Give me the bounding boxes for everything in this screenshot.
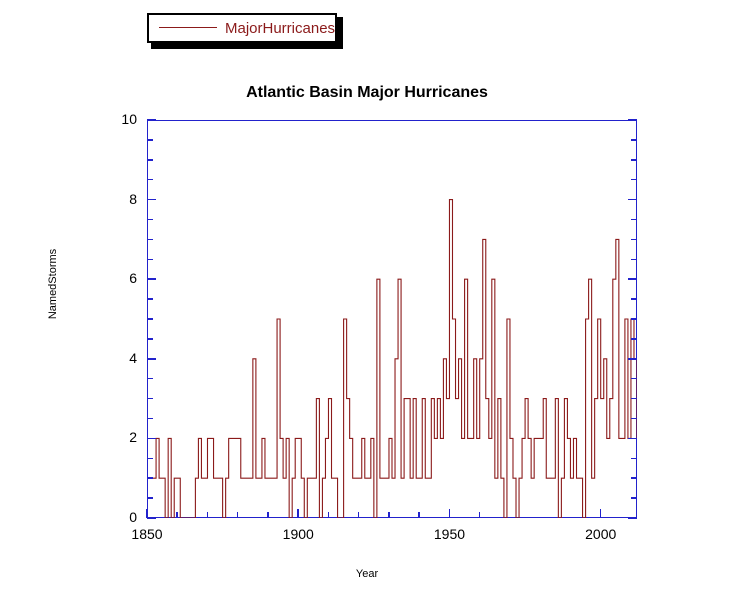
chart-root: MajorHurricanes Atlantic Basin Major Hur… [0, 0, 734, 599]
y-minor-tick-right [631, 338, 637, 340]
y-minor-tick-right [631, 219, 637, 221]
y-minor-tick [147, 418, 153, 420]
y-minor-tick [147, 139, 153, 141]
y-major-tick-right [628, 119, 637, 121]
y-tick-label-10: 10 [105, 111, 137, 127]
y-minor-tick-right [631, 477, 637, 479]
x-minor-tick [479, 512, 481, 518]
y-minor-tick [147, 338, 153, 340]
chart-title: Atlantic Basin Major Hurricanes [0, 84, 734, 102]
y-tick-label-6: 6 [105, 270, 137, 286]
y-tick-label-0: 0 [105, 509, 137, 525]
y-tick-label-4: 4 [105, 350, 137, 366]
y-minor-tick-right [631, 179, 637, 181]
y-minor-tick [147, 159, 153, 161]
x-major-tick [449, 509, 451, 518]
y-minor-tick-right [631, 318, 637, 320]
y-minor-tick [147, 398, 153, 400]
y-major-tick-right [628, 517, 637, 519]
y-minor-tick [147, 298, 153, 300]
x-tick-label-1900: 1900 [268, 526, 328, 542]
x-minor-tick [267, 512, 269, 518]
x-tick-label-1950: 1950 [419, 526, 479, 542]
y-minor-tick [147, 378, 153, 380]
y-tick-label-8: 8 [105, 191, 137, 207]
x-major-tick [146, 509, 148, 518]
y-minor-tick [147, 458, 153, 460]
x-minor-tick [388, 512, 390, 518]
y-minor-tick-right [631, 378, 637, 380]
y-minor-tick [147, 477, 153, 479]
y-major-tick-right [628, 358, 637, 360]
y-major-tick [147, 278, 156, 280]
x-tick-label-2000: 2000 [571, 526, 631, 542]
y-major-tick [147, 199, 156, 201]
x-axis-title: Year [0, 568, 734, 580]
x-minor-tick [207, 512, 209, 518]
y-minor-tick [147, 219, 153, 221]
legend-line-sample-icon [159, 27, 217, 29]
y-minor-tick-right [631, 497, 637, 499]
x-minor-tick [328, 512, 330, 518]
y-minor-tick-right [631, 418, 637, 420]
legend-label-majorhurricanes: MajorHurricanes [225, 20, 335, 37]
y-minor-tick [147, 259, 153, 261]
y-major-tick-right [628, 278, 637, 280]
y-minor-tick-right [631, 159, 637, 161]
y-major-tick-right [628, 438, 637, 440]
x-tick-label-1850: 1850 [117, 526, 177, 542]
y-minor-tick-right [631, 458, 637, 460]
x-minor-tick [418, 512, 420, 518]
y-tick-label-2: 2 [105, 429, 137, 445]
y-minor-tick [147, 318, 153, 320]
x-major-tick [297, 509, 299, 518]
y-major-tick-right [628, 199, 637, 201]
y-major-tick [147, 358, 156, 360]
data-series-majorhurricanes [147, 120, 637, 518]
x-minor-tick [176, 512, 178, 518]
y-minor-tick [147, 239, 153, 241]
y-minor-tick-right [631, 139, 637, 141]
y-major-tick [147, 119, 156, 121]
y-minor-tick [147, 497, 153, 499]
series-path [150, 200, 637, 518]
y-major-tick [147, 517, 156, 519]
y-minor-tick-right [631, 259, 637, 261]
x-major-tick [600, 509, 602, 518]
y-minor-tick-right [631, 239, 637, 241]
y-axis-title: NamedStorms [47, 229, 59, 339]
x-minor-tick [237, 512, 239, 518]
y-minor-tick [147, 179, 153, 181]
y-major-tick [147, 438, 156, 440]
x-minor-tick [358, 512, 360, 518]
y-minor-tick-right [631, 398, 637, 400]
legend-box[interactable]: MajorHurricanes [147, 13, 337, 43]
y-minor-tick-right [631, 298, 637, 300]
